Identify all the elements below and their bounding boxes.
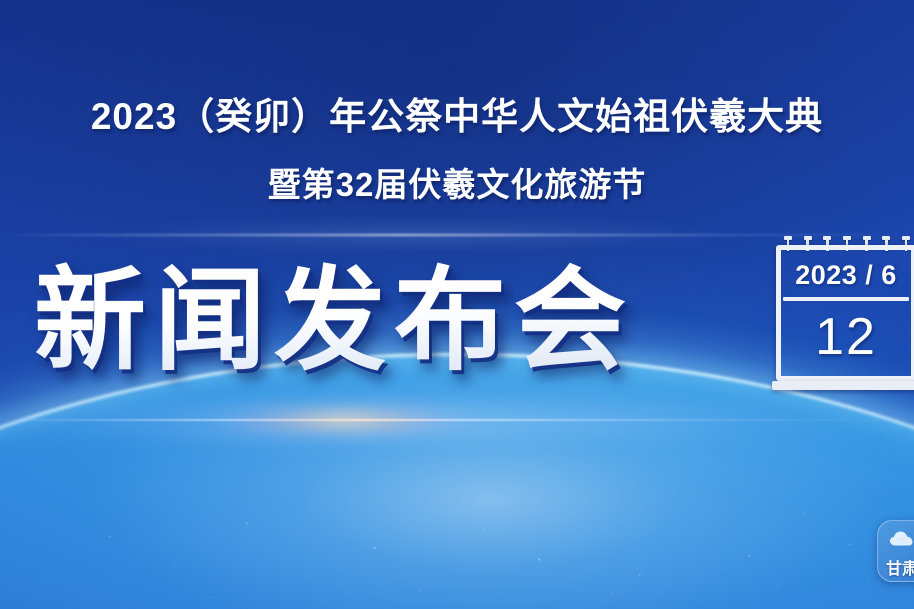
channel-logo-badge[interactable]: 甘肃: [877, 520, 914, 582]
news-conference-poster: 2023（癸卯）年公祭中华人文始祖伏羲大典 暨第32届伏羲文化旅游节 新闻发布会…: [0, 0, 914, 609]
cloud-icon: [889, 530, 914, 547]
date-calendar: 2023 / 6 12: [776, 236, 914, 390]
logo-label: 甘肃: [886, 555, 914, 579]
page-title: 新闻发布会: [34, 258, 634, 383]
calendar-day-label: 12: [781, 307, 911, 367]
lens-flare-core: [180, 396, 540, 444]
earth-atmosphere-rim: [0, 353, 914, 609]
calendar-body: 2023 / 6 12: [776, 245, 914, 381]
calendar-month-label: 2023 / 6: [781, 260, 911, 291]
poster-headline: 2023（癸卯）年公祭中华人文始祖伏羲大典: [0, 86, 914, 140]
calendar-base: [772, 381, 914, 390]
calendar-separator: [783, 297, 909, 301]
poster-subheadline: 暨第32届伏羲文化旅游节: [0, 158, 914, 206]
